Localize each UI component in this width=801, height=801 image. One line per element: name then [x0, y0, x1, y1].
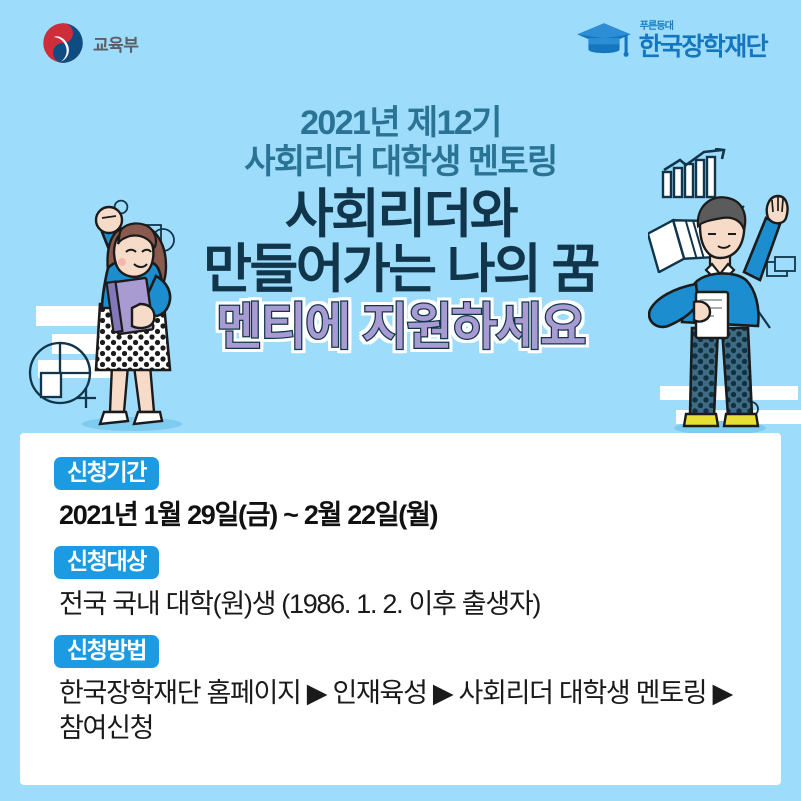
badge-how-to-apply: 신청방법	[54, 635, 159, 668]
info-row-how-to-apply: 신청방법 한국장학재단 홈페이지 ▶ 인재육성 ▶ 사회리더 대학생 멘토링 ▶…	[54, 635, 747, 746]
how-to-apply-text: 한국장학재단 홈페이지 ▶ 인재육성 ▶ 사회리더 대학생 멘토링 ▶ 참여신청	[59, 676, 747, 746]
info-row-application-period: 신청기간 2021년 1월 29일(금) ~ 2월 22일(월)	[54, 457, 747, 533]
hero-section: 2021년 제12기 사회리더 대학생 멘토링 사회리더와 만들어가는 나의 꿈…	[0, 0, 801, 433]
badge-application-period: 신청기간	[54, 457, 159, 490]
male-student-illustration	[648, 188, 801, 436]
info-card: 신청기간 2021년 1월 29일(금) ~ 2월 22일(월) 신청대상 전국…	[20, 433, 781, 785]
info-row-eligibility: 신청대상 전국 국내 대학(원)생 (1986. 1. 2. 이후 출생자)	[54, 546, 747, 622]
poster-root: 교육부 푸른등대 한국장학재단	[0, 0, 801, 801]
female-student-illustration	[28, 180, 228, 433]
application-period-text: 2021년 1월 29일(금) ~ 2월 22일(월)	[59, 498, 747, 533]
badge-eligibility: 신청대상	[54, 546, 159, 579]
hero-title-line1: 2021년 제12기	[0, 104, 801, 143]
eligibility-text: 전국 국내 대학(원)생 (1986. 1. 2. 이후 출생자)	[59, 587, 747, 622]
